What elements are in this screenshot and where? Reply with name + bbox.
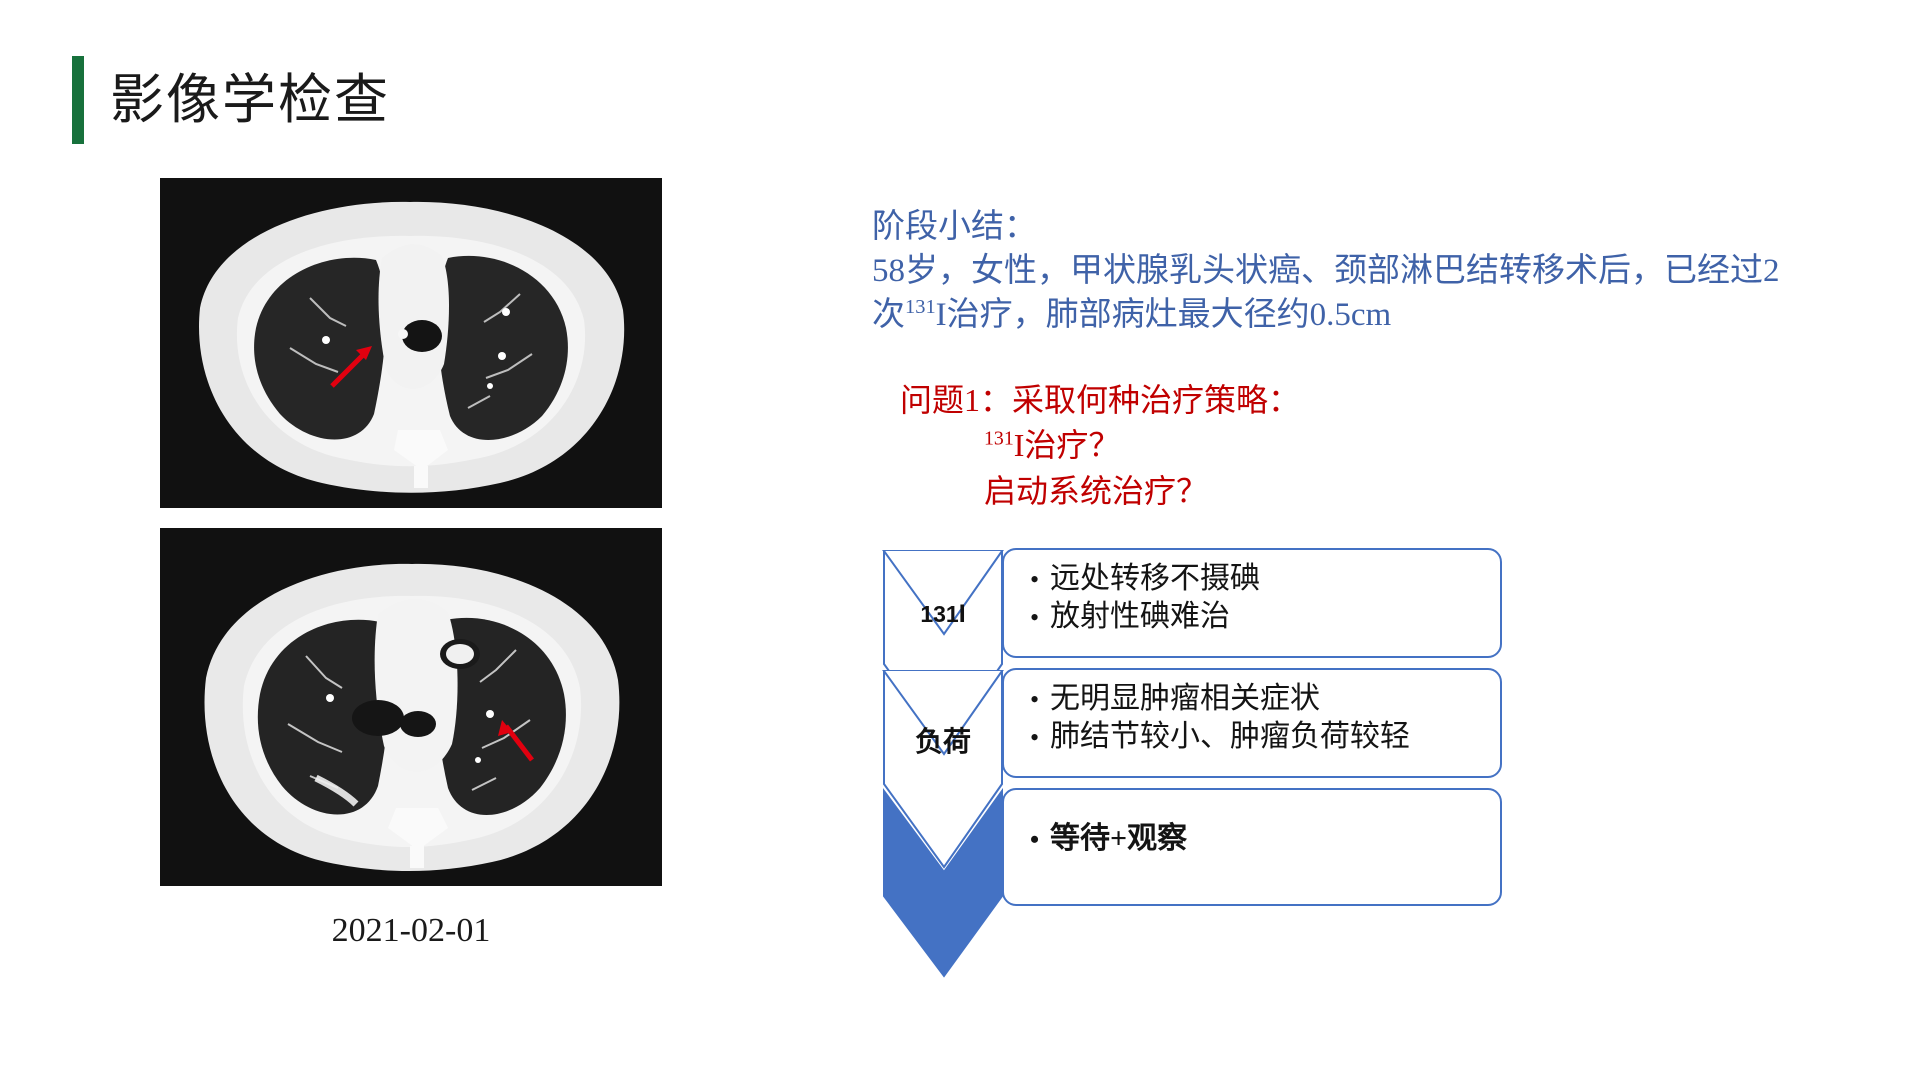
- ct-image-upper: [160, 178, 662, 508]
- summary-line-1: 58岁，女性，甲状腺乳头状癌、颈部淋巴结转移术后，已经过2: [872, 250, 1832, 294]
- imaging-column: 2021-02-01: [160, 178, 662, 950]
- title-text: 影像学检查: [110, 73, 390, 127]
- chevron-filled-icon: [884, 788, 1014, 978]
- question-line-1: 问题1：采取何种治疗策略：: [900, 378, 1300, 423]
- chevron-label-iodine: 131I: [884, 600, 1002, 629]
- ct-axial-upper-graphic: [160, 178, 662, 508]
- ct-date-caption: 2021-02-01: [160, 912, 662, 950]
- title-accent-bar: [72, 56, 84, 144]
- chevron-shape-watch: [884, 788, 1002, 948]
- chevron-label-iodine-main: I: [959, 600, 966, 628]
- flow-bubble-burden: 无明显肿瘤相关症状 肺结节较小、肿瘤负荷较轻: [1002, 668, 1502, 778]
- page-title: 影像学检查: [72, 55, 390, 145]
- ct-axial-lower-graphic: [160, 528, 662, 886]
- question-option-2: 启动系统治疗？: [900, 469, 1300, 514]
- ct-image-lower: [160, 528, 662, 886]
- summary-line-2-rest: I治疗，肺部病灶最大径约0.5cm: [936, 297, 1392, 333]
- isotope-superscript: 131: [905, 296, 936, 318]
- flow-bubble-iodine: 远处转移不摄碘 放射性碘难治: [1002, 548, 1502, 658]
- summary-line-2-prefix: 次: [872, 297, 905, 333]
- flow-row-iodine: 131I 远处转移不摄碘 放射性碘难治: [884, 548, 1504, 660]
- question-block: 问题1：采取何种治疗策略： 131I治疗？ 启动系统治疗？: [900, 378, 1300, 514]
- flow-bullet: 无明显肿瘤相关症状: [1030, 680, 1500, 718]
- flow-bullet: 肺结节较小、肿瘤负荷较轻: [1030, 718, 1500, 756]
- chevron-label-burden: 负荷: [884, 720, 1002, 760]
- chevron-label-iodine-sup: 131: [920, 601, 958, 627]
- flow-bullet: 放射性碘难治: [1030, 598, 1500, 636]
- summary-line-2: 次131I治疗，肺部病灶最大径约0.5cm: [872, 294, 1832, 338]
- isotope-superscript-question: 131: [984, 428, 1014, 450]
- summary-heading: 阶段小结：: [872, 206, 1832, 250]
- flow-row-watch: 等待+观察: [884, 788, 1504, 910]
- question-option-1: 131I治疗？: [900, 423, 1300, 468]
- flow-bullet: 等待+观察: [1030, 820, 1500, 858]
- question-option-1-text: I治疗？: [1014, 427, 1121, 463]
- decision-flow: 131I 远处转移不摄碘 放射性碘难治 负荷 无明显肿瘤相关症状 肺结节较小、肿…: [884, 548, 1504, 918]
- flow-bubble-watch: 等待+观察: [1002, 788, 1502, 906]
- flow-row-burden: 负荷 无明显肿瘤相关症状 肺结节较小、肿瘤负荷较轻: [884, 668, 1504, 780]
- flow-bullet: 远处转移不摄碘: [1030, 560, 1500, 598]
- chevron-label-burden-main: 负荷: [915, 727, 971, 758]
- stage-summary: 阶段小结： 58岁，女性，甲状腺乳头状癌、颈部淋巴结转移术后，已经过2 次131…: [872, 206, 1832, 338]
